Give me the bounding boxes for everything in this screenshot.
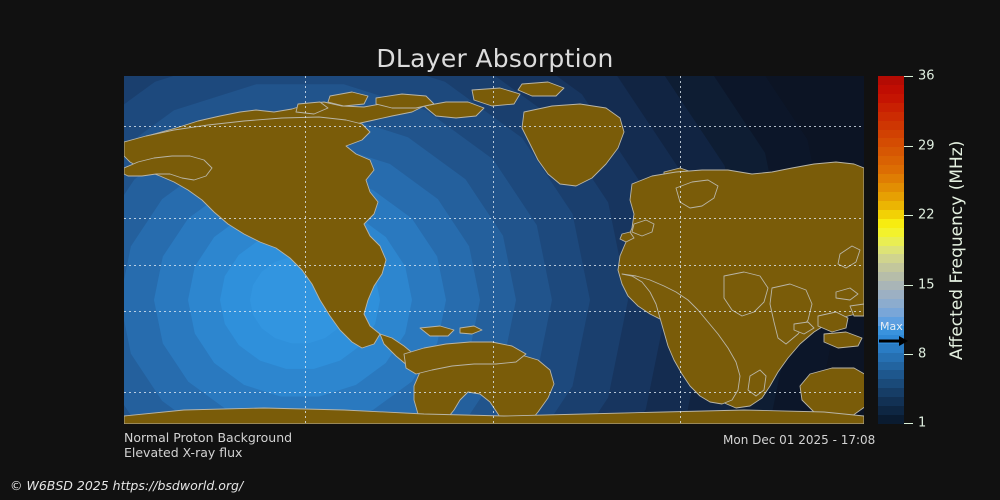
colorbar-tick-label: 8 [918,347,926,362]
colorbar-segment [878,174,904,183]
colorbar-segment [878,290,904,299]
colorbar-segment [878,228,904,237]
colorbar-segment [878,246,904,255]
colorbar-segment [878,272,904,281]
colorbar-segment [878,379,904,388]
colorbar-segment [878,147,904,156]
colorbar-segment [878,237,904,246]
colorbar-segment [878,254,904,263]
colorbar-segment [878,353,904,362]
colorbar-segment [878,138,904,147]
colorbar-segment [878,165,904,174]
colorbar-tick [904,76,913,77]
colorbar-segment [878,156,904,165]
colorbar[interactable]: Max 3629221581 [878,76,904,424]
colorbar-segment [878,406,904,415]
colorbar-segment [878,317,904,326]
colorbar-tick [904,354,913,355]
map-canvas [124,76,864,424]
colorbar-segment [878,201,904,210]
colorbar-segment [878,94,904,103]
colorbar-segment [878,388,904,397]
colorbar-gradient [878,76,904,424]
colorbar-segment [878,335,904,344]
timestamp: Mon Dec 01 2025 - 17:08 [723,433,875,447]
world-map[interactable] [124,76,864,424]
colorbar-segment [878,121,904,130]
colorbar-segment [878,76,904,85]
colorbar-tick [904,146,913,147]
colorbar-segment [878,85,904,94]
colorbar-segment [878,183,904,192]
colorbar-segment [878,308,904,317]
colorbar-tick-label: 29 [918,138,935,153]
footer-credit: © W6BSD 2025 https://bsdworld.org/ [10,478,243,493]
colorbar-segment [878,397,904,406]
page-title: DLayer Absorption [0,44,990,73]
colorbar-tick [904,423,913,424]
colorbar-segment [878,344,904,353]
note-proton-background: Normal Proton Background [124,430,292,445]
colorbar-segment [878,130,904,139]
colorbar-segment [878,415,904,424]
colorbar-segment [878,362,904,371]
colorbar-segment [878,210,904,219]
note-xray-flux: Elevated X-ray flux [124,445,242,460]
colorbar-segment [878,219,904,228]
colorbar-tick-label: 22 [918,208,935,223]
colorbar-tick [904,285,913,286]
colorbar-tick [904,215,913,216]
colorbar-segment [878,263,904,272]
colorbar-segment [878,112,904,121]
colorbar-segment [878,103,904,112]
colorbar-tick-label: 1 [918,416,926,431]
colorbar-segment [878,192,904,201]
colorbar-segment [878,370,904,379]
colorbar-segment [878,299,904,308]
colorbar-segment [878,281,904,290]
colorbar-segment [878,326,904,335]
colorbar-tick-label: 36 [918,69,935,84]
colorbar-tick-label: 15 [918,277,935,292]
app-root: DLayer Absorption [0,0,1000,500]
colorbar-title: Affected Frequency (MHz) [944,76,970,424]
